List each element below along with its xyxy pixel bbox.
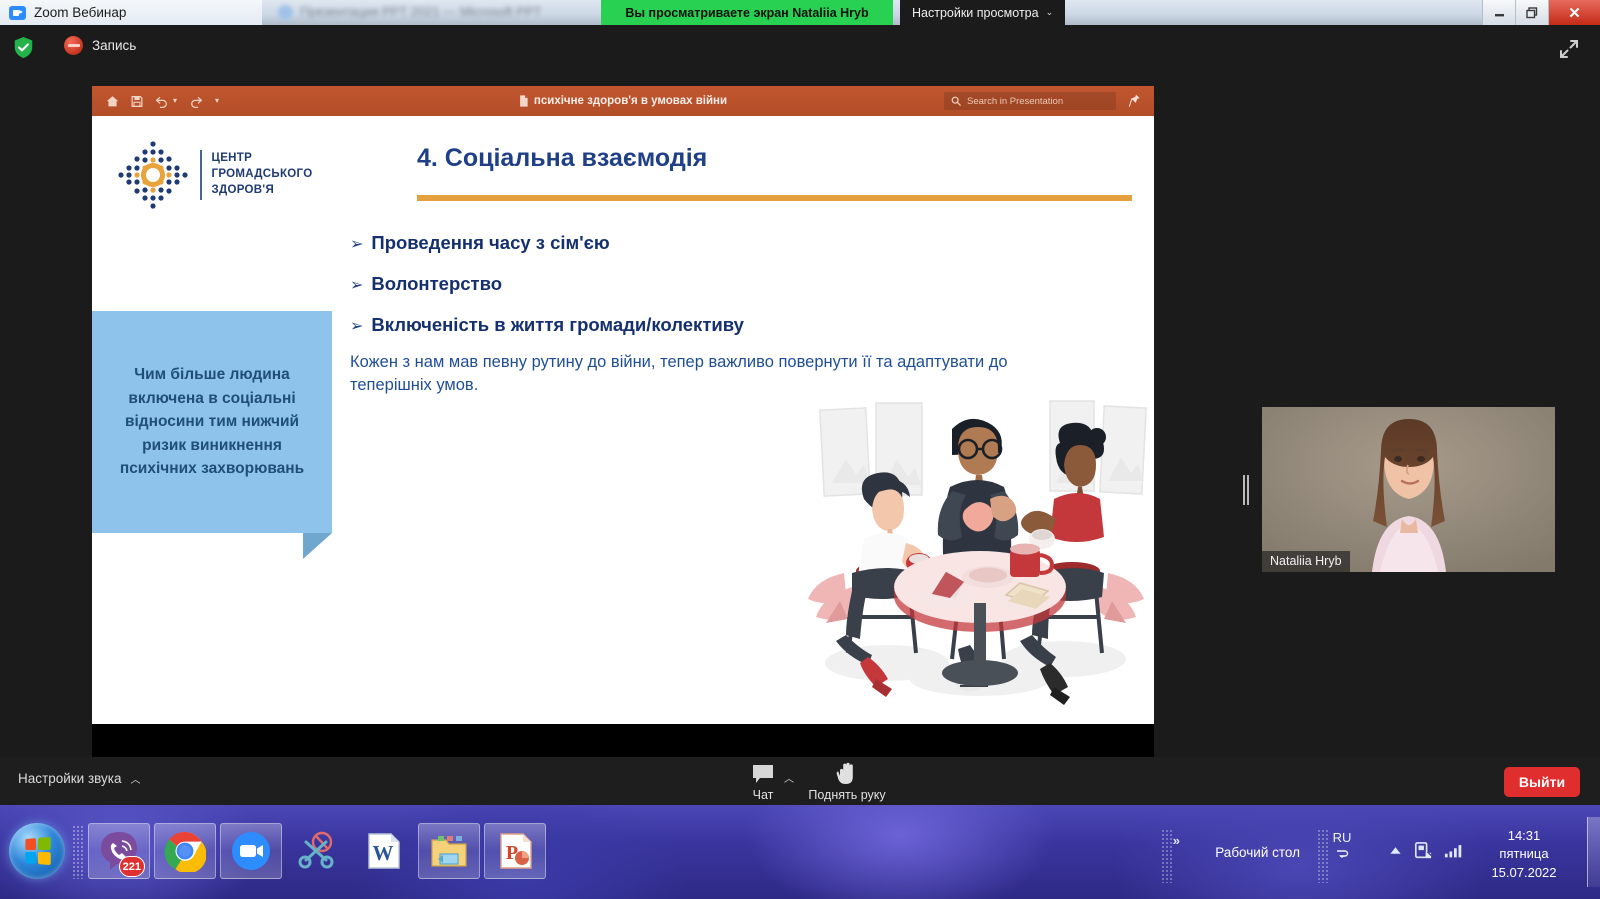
- taskbar-item-powerpoint[interactable]: P: [484, 823, 546, 879]
- drag-handle-icon[interactable]: [1243, 475, 1249, 505]
- bullet-arrow-icon: ➢: [350, 278, 363, 294]
- svg-text:W: W: [373, 841, 394, 865]
- restore-button[interactable]: [1515, 0, 1548, 25]
- view-options-button[interactable]: Настройки просмотра ⌄: [900, 0, 1065, 25]
- window-controls: ✕: [1482, 0, 1600, 25]
- bullet-text: Включеність в життя громади/колективу: [371, 314, 744, 336]
- zoom-bottom-toolbar: Настройки звука ︿ Чат ︿ Поднять ру: [0, 757, 1600, 805]
- participant-video-tile[interactable]: Nataliia Hryb: [1262, 407, 1555, 572]
- zoom-logo-icon: [9, 6, 26, 20]
- recording-indicator[interactable]: Запись: [64, 36, 136, 55]
- chat-options-caret-icon[interactable]: ︿: [784, 770, 794, 785]
- callout-text: Чим більше людина включена в соціальні в…: [106, 363, 318, 481]
- close-button[interactable]: ✕: [1548, 0, 1600, 25]
- meeting-controls: Чат ︿ Поднять руку: [726, 762, 884, 802]
- three-people-at-cafe-table-illustration: [792, 391, 1154, 711]
- search-input[interactable]: Search in Presentation: [944, 92, 1116, 110]
- taskbar-grip[interactable]: [72, 825, 83, 879]
- dotted-sun-logo-icon: [116, 139, 190, 211]
- chat-bubble-icon: [751, 762, 775, 786]
- list-item: ➢ Включеність в життя громади/колективу: [350, 314, 1050, 336]
- close-icon: ✕: [1568, 4, 1581, 22]
- logo-line-1: ЦЕНТР: [212, 151, 313, 167]
- keyboard-layout-icon: [1335, 849, 1349, 861]
- presentation-toolbar: ▾ ▾ психічне здоров'я в умовах війни: [92, 86, 1154, 116]
- zoom-app-icon: [230, 830, 272, 872]
- taskbar-item-viber[interactable]: 221: [88, 823, 150, 879]
- taskbar-apps: 221: [88, 823, 546, 879]
- list-item: ➢ Волонтерство: [350, 273, 1050, 295]
- taskbar-item-file-explorer[interactable]: [418, 823, 480, 879]
- system-tray-icons: [1389, 841, 1464, 861]
- file-explorer-icon: [428, 830, 470, 872]
- organization-logo: ЦЕНТР ГРОМАДСЬКОГО ЗДОРОВ'Я: [116, 139, 331, 211]
- raise-hand-label: Поднять руку: [808, 788, 885, 802]
- language-code: RU: [1324, 829, 1360, 847]
- enter-fullscreen-icon[interactable]: [1557, 37, 1581, 61]
- raise-hand-icon: [836, 762, 858, 786]
- windows-start-orb-icon[interactable]: [9, 823, 65, 879]
- slide-bullet-list: ➢ Проведення часу з сім'єю ➢ Волонтерств…: [350, 232, 1050, 355]
- google-chrome-icon: [164, 830, 206, 872]
- callout-fold-corner: [303, 533, 332, 559]
- raise-hand-button[interactable]: Поднять руку: [810, 762, 884, 802]
- viber-unread-badge: 221: [119, 856, 145, 877]
- background-window-title: Презентация PPT 2021 — Microsoft PPT: [300, 4, 542, 19]
- minimize-icon: [1493, 6, 1506, 19]
- minimize-button[interactable]: [1482, 0, 1515, 25]
- bullet-text: Проведення часу з сім'єю: [371, 232, 609, 254]
- logo-line-3: ЗДОРОВ'Я: [212, 183, 313, 199]
- background-window-icon: [278, 5, 293, 20]
- show-hidden-icons-icon[interactable]: [1389, 846, 1402, 856]
- slide-title: 4. Соціальна взаємодія: [417, 144, 707, 173]
- screen-share-banner: Вы просматриваете экран Nataliia Hryb: [601, 0, 893, 25]
- chevron-up-icon: ︿: [130, 771, 140, 786]
- audio-settings-button[interactable]: Настройки звука ︿: [18, 771, 140, 786]
- taskbar-clock[interactable]: 14:31 пятница 15.07.2022: [1470, 827, 1578, 882]
- show-desktop-peek-label[interactable]: Рабочий стол: [1215, 845, 1300, 860]
- taskbar-item-zoom[interactable]: [220, 823, 282, 879]
- title-underline-rule: [417, 195, 1132, 201]
- zoom-top-toolbar: Запись: [0, 25, 1600, 71]
- search-placeholder: Search in Presentation: [967, 96, 1063, 107]
- window-title: Zoom Вебинар: [34, 5, 126, 20]
- windows-taskbar: 221: [0, 805, 1600, 899]
- chat-label: Чат: [753, 788, 774, 802]
- presentation-document-title: психічне здоров'я в умовах війни: [534, 95, 727, 107]
- document-icon: [519, 95, 528, 107]
- logo-line-2: ГРОМАДСЬКОГО: [212, 167, 313, 183]
- recording-indicator-icon: [64, 36, 83, 55]
- recording-label: Запись: [92, 38, 136, 53]
- audio-settings-label: Настройки звука: [18, 771, 121, 786]
- microsoft-word-icon: W: [362, 830, 404, 872]
- bullet-arrow-icon: ➢: [350, 237, 363, 253]
- language-indicator[interactable]: RU: [1324, 829, 1360, 865]
- chevron-down-icon: ⌄: [1046, 7, 1054, 18]
- view-options-label: Настройки просмотра: [912, 6, 1039, 20]
- bullet-arrow-icon: ➢: [350, 319, 363, 335]
- leave-meeting-button[interactable]: Выйти: [1504, 767, 1580, 797]
- slide-canvas: ЦЕНТР ГРОМАДСЬКОГО ЗДОРОВ'Я 4. Соціальна…: [92, 116, 1154, 724]
- taskbar-item-word[interactable]: W: [352, 823, 414, 879]
- zoom-window-titlebar: Zoom Вебинар: [0, 0, 262, 26]
- clock-date: 15.07.2022: [1470, 864, 1578, 882]
- clock-time: 14:31: [1470, 827, 1578, 845]
- meeting-stage: ▾ ▾ психічне здоров'я в умовах війни: [0, 71, 1600, 757]
- shared-screen-presentation: ▾ ▾ психічне здоров'я в умовах війни: [92, 86, 1154, 766]
- restore-icon: [1525, 6, 1539, 20]
- microsoft-powerpoint-icon: P: [494, 830, 536, 872]
- participant-name-label: Nataliia Hryb: [1262, 551, 1350, 572]
- network-signal-icon[interactable]: [1444, 843, 1464, 859]
- list-item: ➢ Проведення часу з сім'єю: [350, 232, 1050, 254]
- show-desktop-button[interactable]: [1587, 817, 1600, 887]
- screen-share-text: Вы просматриваете экран Nataliia Hryb: [625, 6, 868, 20]
- avatar: [1262, 407, 1555, 572]
- taskbar-separator: [1161, 829, 1172, 883]
- organization-name: ЦЕНТР ГРОМАДСЬКОГО ЗДОРОВ'Я: [212, 151, 313, 199]
- removable-media-icon[interactable]: [1414, 841, 1432, 861]
- taskbar-item-snipping-tool[interactable]: [286, 823, 348, 879]
- logo-divider: [200, 150, 202, 200]
- search-icon: [951, 96, 961, 106]
- taskbar-item-chrome[interactable]: [154, 823, 216, 879]
- security-shield-icon[interactable]: [13, 36, 34, 59]
- show-hidden-tray-chevron-icon[interactable]: »: [1173, 833, 1180, 848]
- callout-box: Чим більше людина включена в соціальні в…: [92, 311, 332, 533]
- snipping-tool-icon: [296, 830, 338, 872]
- clock-weekday: пятница: [1470, 845, 1578, 863]
- bullet-text: Волонтерство: [371, 273, 502, 295]
- pin-icon[interactable]: [1129, 94, 1140, 107]
